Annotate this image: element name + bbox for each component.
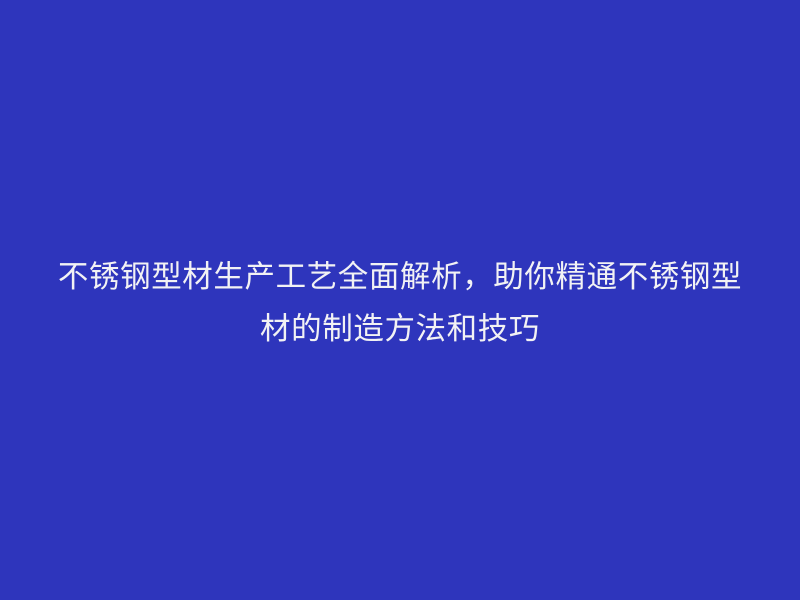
headline-block: 不锈钢型材生产工艺全面解析，助你精通不锈钢型材的制造方法和技巧 bbox=[0, 251, 800, 355]
page-title: 不锈钢型材生产工艺全面解析，助你精通不锈钢型材的制造方法和技巧 bbox=[52, 251, 748, 355]
title-card: 不锈钢型材生产工艺全面解析，助你精通不锈钢型材的制造方法和技巧 bbox=[0, 0, 800, 600]
